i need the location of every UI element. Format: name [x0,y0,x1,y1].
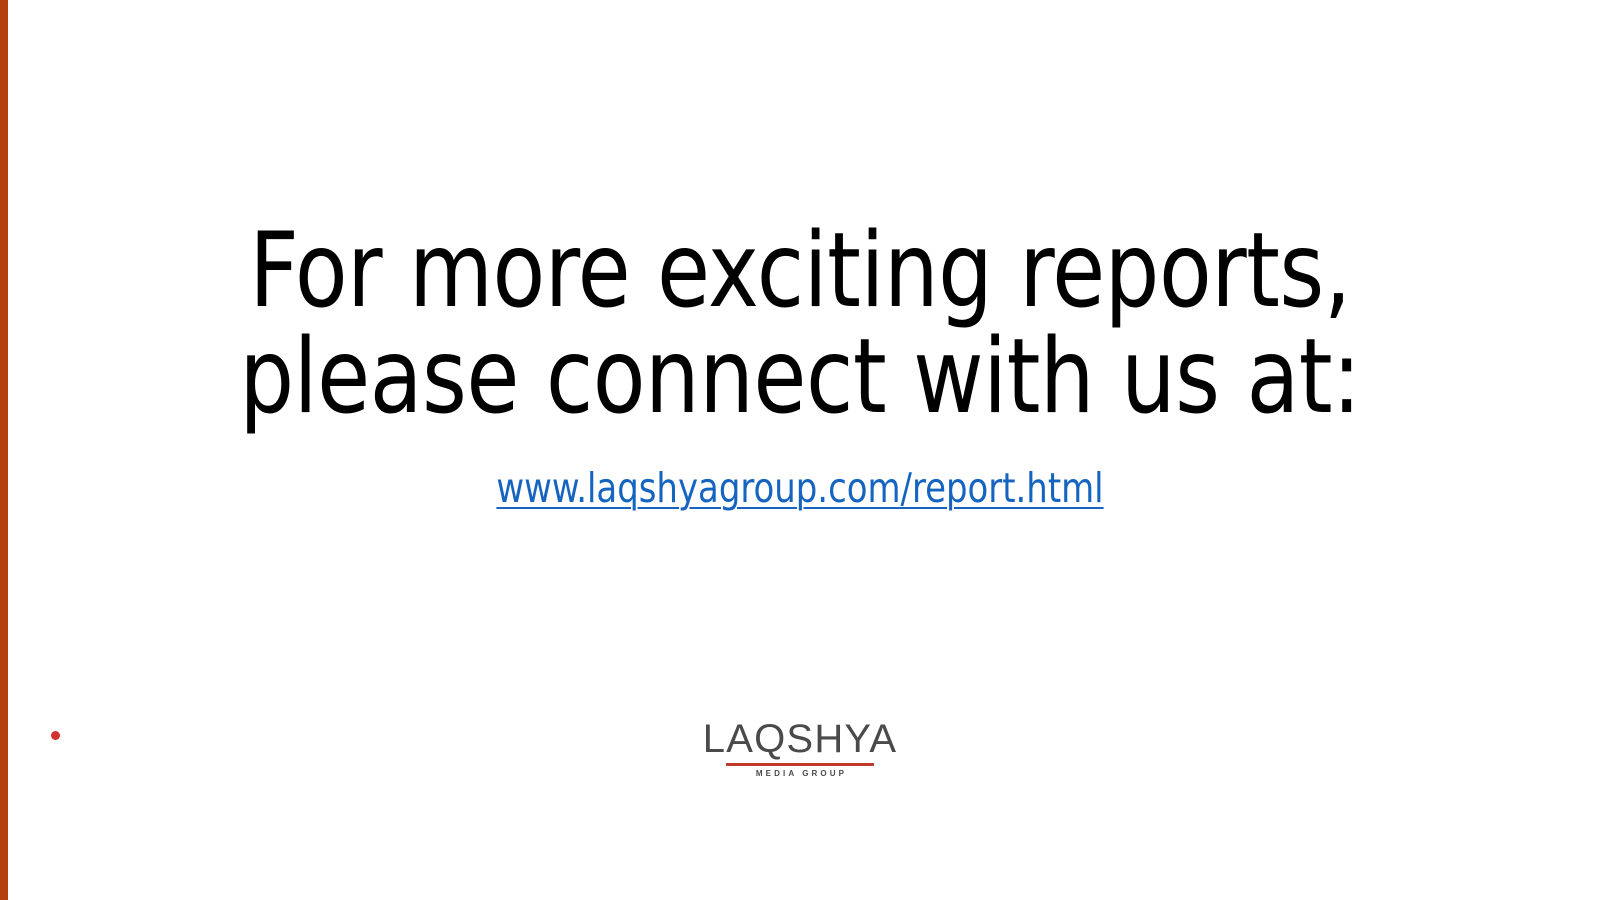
slide-canvas: For more exciting reports, please connec… [0,0,1600,900]
logo-inner: LAQSHYA MEDIA GROUP [703,718,897,778]
logo-wordmark: LAQSHYA [703,718,897,760]
report-url-link[interactable]: www.laqshyagroup.com/report.html [496,464,1103,512]
logo-tagline: MEDIA GROUP [703,770,897,778]
page-title: For more exciting reports, please connec… [0,218,1600,430]
logo-q-dot-icon [51,731,60,740]
headline-line-1: For more exciting reports, [56,218,1544,324]
headline-line-2: please connect with us at: [56,324,1544,430]
report-link-container: www.laqshyagroup.com/report.html [0,464,1600,512]
logo-divider-rule [726,763,874,766]
laqshya-logo: LAQSHYA MEDIA GROUP [0,718,1600,781]
